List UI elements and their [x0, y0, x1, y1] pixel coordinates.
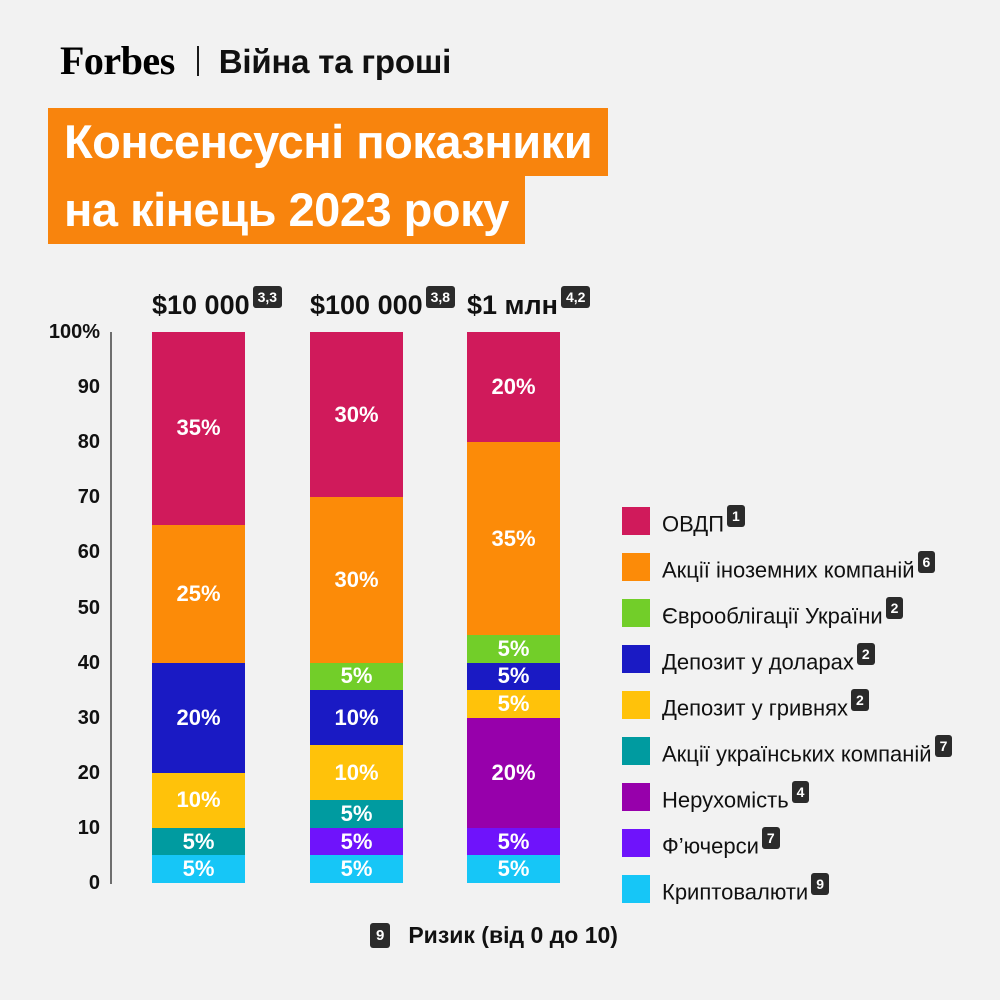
legend-color-swatch — [622, 645, 650, 673]
bar-segment[interactable]: 20% — [467, 332, 560, 442]
y-axis-tick: 50 — [0, 598, 100, 618]
y-axis-tick: 70 — [0, 487, 100, 507]
legend-item-label: ОВДП1 — [662, 507, 745, 535]
y-axis-tick: 80 — [0, 432, 100, 452]
bar-1[interactable]: 35%25%20%10%5%5% — [152, 332, 245, 883]
legend-item-label: Криптовалюти9 — [662, 875, 829, 903]
bar-segment[interactable]: 20% — [152, 663, 245, 773]
legend-color-swatch — [622, 737, 650, 765]
column-header-label: $100 000 — [310, 290, 423, 320]
column-header-label: $10 000 — [152, 290, 250, 320]
legend-color-swatch — [622, 507, 650, 535]
legend-color-swatch — [622, 875, 650, 903]
legend-color-swatch — [622, 783, 650, 811]
bar-segment[interactable]: 5% — [467, 690, 560, 718]
legend-risk-badge: 7 — [762, 827, 780, 849]
legend-item-label: Акції іноземних компаній6 — [662, 553, 935, 581]
legend-item-9[interactable]: Криптовалюти9 — [622, 866, 952, 912]
column-risk-badge: 4,2 — [561, 286, 590, 308]
chart-legend: ОВДП1Акції іноземних компаній6Єврообліга… — [622, 498, 952, 912]
legend-item-7[interactable]: Нерухомість4 — [622, 774, 952, 820]
bar-segment[interactable]: 20% — [467, 718, 560, 828]
legend-risk-badge: 9 — [811, 873, 829, 895]
bar-segment[interactable]: 5% — [152, 855, 245, 883]
bar-segment[interactable]: 5% — [467, 663, 560, 691]
y-axis-tick: 40 — [0, 653, 100, 673]
bar-segment[interactable]: 5% — [152, 828, 245, 856]
legend-item-3[interactable]: Єврооблігації України2 — [622, 590, 952, 636]
bar-segment[interactable]: 5% — [467, 828, 560, 856]
risk-scale-footer: 9 Ризик (від 0 до 10) — [370, 923, 618, 948]
legend-item-4[interactable]: Депозит у доларах2 — [622, 636, 952, 682]
legend-risk-badge: 7 — [935, 735, 953, 757]
legend-item-8[interactable]: Ф’ючерси7 — [622, 820, 952, 866]
y-axis-tick: 20 — [0, 763, 100, 783]
legend-item-label: Депозит у гривнях2 — [662, 691, 869, 719]
legend-item-2[interactable]: Акції іноземних компаній6 — [622, 544, 952, 590]
legend-item-label: Депозит у доларах2 — [662, 645, 875, 673]
bar-segment[interactable]: 10% — [310, 745, 403, 800]
y-axis-tick-labels: 100%9080706050403020100 — [0, 0, 100, 1000]
bar-segment[interactable]: 10% — [310, 690, 403, 745]
bar-segment[interactable]: 30% — [310, 332, 403, 497]
bar-segment[interactable]: 5% — [467, 635, 560, 663]
legend-item-label: Нерухомість4 — [662, 783, 809, 811]
legend-color-swatch — [622, 829, 650, 857]
legend-risk-badge: 4 — [792, 781, 810, 803]
bar-2[interactable]: 30%30%5%10%10%5%5%5% — [310, 332, 403, 883]
bar-segment[interactable]: 5% — [310, 855, 403, 883]
legend-color-swatch — [622, 599, 650, 627]
legend-item-5[interactable]: Депозит у гривнях2 — [622, 682, 952, 728]
column-header-1: $10 0003,3 — [152, 288, 282, 319]
legend-color-swatch — [622, 691, 650, 719]
bar-segment[interactable]: 5% — [310, 828, 403, 856]
bar-segment[interactable]: 5% — [310, 800, 403, 828]
legend-item-label: Ф’ючерси7 — [662, 829, 780, 857]
bar-segment[interactable]: 5% — [467, 855, 560, 883]
column-header-3: $1 млн4,2 — [467, 288, 590, 319]
legend-risk-badge: 2 — [886, 597, 904, 619]
y-axis-tick: 100% — [0, 322, 100, 342]
bar-segment[interactable]: 5% — [310, 663, 403, 691]
legend-risk-badge: 2 — [857, 643, 875, 665]
legend-item-label: Акції українських компаній7 — [662, 737, 952, 765]
bar-segment[interactable]: 25% — [152, 525, 245, 663]
y-axis-tick: 10 — [0, 818, 100, 838]
column-risk-badge: 3,3 — [253, 286, 282, 308]
risk-badge-icon: 9 — [370, 923, 390, 948]
bar-segment[interactable]: 35% — [467, 442, 560, 635]
bar-segment[interactable]: 30% — [310, 497, 403, 662]
y-axis-tick: 90 — [0, 377, 100, 397]
legend-color-swatch — [622, 553, 650, 581]
y-axis-line — [110, 332, 112, 884]
y-axis-tick: 60 — [0, 542, 100, 562]
bar-3[interactable]: 20%35%5%5%5%20%5%5% — [467, 332, 560, 883]
legend-item-6[interactable]: Акції українських компаній7 — [622, 728, 952, 774]
legend-risk-badge: 2 — [851, 689, 869, 711]
y-axis-tick: 30 — [0, 708, 100, 728]
legend-item-1[interactable]: ОВДП1 — [622, 498, 952, 544]
column-header-label: $1 млн — [467, 290, 558, 320]
risk-scale-label: Ризик (від 0 до 10) — [408, 924, 618, 947]
column-risk-badge: 3,8 — [426, 286, 455, 308]
legend-risk-badge: 1 — [727, 505, 745, 527]
column-header-2: $100 0003,8 — [310, 288, 455, 319]
legend-risk-badge: 6 — [918, 551, 936, 573]
bar-segment[interactable]: 35% — [152, 332, 245, 525]
legend-item-label: Єврооблігації України2 — [662, 599, 903, 627]
bar-segment[interactable]: 10% — [152, 773, 245, 828]
y-axis-tick: 0 — [0, 873, 100, 893]
